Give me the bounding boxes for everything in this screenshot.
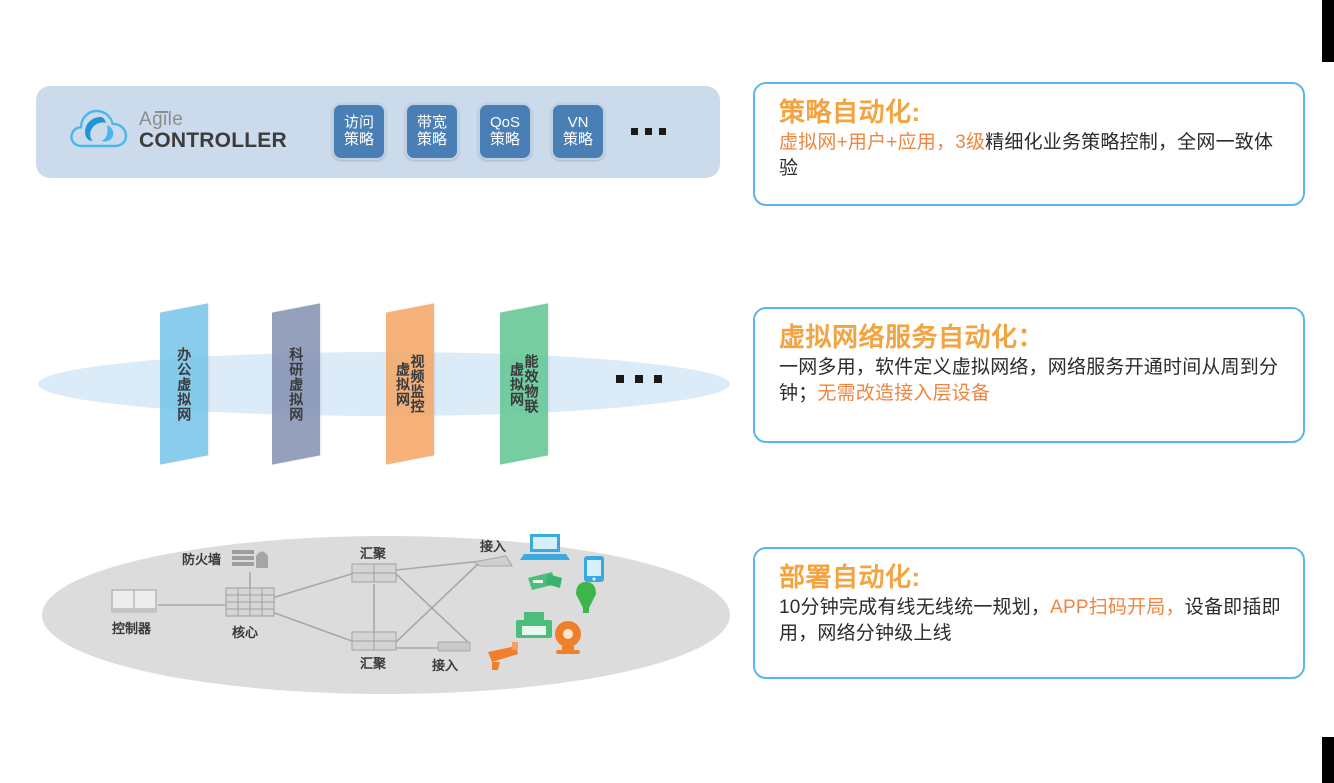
vn-slab-video-surveillance-text-1: 虚拟网: [395, 362, 410, 407]
vn-slab-energy-iot-label: 虚拟网 能效物联: [500, 308, 548, 460]
controller-node-label: 控制器: [112, 621, 152, 636]
logo-brand-top: Agile: [139, 110, 183, 129]
policy-tile-vn-line2: 策略: [563, 132, 593, 149]
ellipsis-dot: [635, 375, 643, 383]
vn-slab-energy-iot-text-2: 能效物联: [524, 354, 539, 414]
policy-automation-card: 策略自动化: 虚拟网+用户+应用，3级精细化业务策略控制，全网一致体验: [753, 82, 1305, 206]
ellipsis-dot: [631, 128, 638, 135]
agg-switch-upper-label: 汇聚: [360, 546, 387, 561]
policy-tile-qos[interactable]: QoS 策略: [478, 103, 532, 160]
virtual-network-service-automation-card: 虚拟网络服务自动化： 一网多用，软件定义虚拟网络，网络服务开通时间从周到分钟；无…: [753, 307, 1305, 443]
link-agg-lower-access-upper: [396, 564, 478, 642]
deployment-automation-highlight: APP扫码开局，: [1050, 597, 1185, 618]
controller-node: [112, 590, 156, 613]
vn-slab-office-text: 办公虚拟网: [177, 347, 192, 422]
policy-tile-bandwidth-line1: 带宽: [417, 115, 447, 132]
access-ap-upper: [474, 556, 512, 566]
policy-tile-row: 访问 策略 带宽 策略 QoS 策略 VN 策略: [332, 103, 666, 160]
deployment-automation-plain-1: 10分钟完成有线无线统一规划，: [779, 597, 1050, 618]
firewall-node-label: 防火墙: [182, 552, 221, 567]
cloud-swirl-icon: [68, 104, 130, 154]
slide-canvas: Agile CONTROLLER 访问 策略 带宽 策略 QoS 策略 VN 策…: [0, 0, 1334, 783]
ellipsis-dot: [659, 128, 666, 135]
topology-links: [158, 561, 482, 648]
access-ap-lower: [438, 642, 470, 651]
vn-slab-office[interactable]: 办公虚拟网: [160, 303, 208, 464]
policy-tile-vn[interactable]: VN 策略: [551, 103, 605, 160]
ellipsis-dot: [654, 375, 662, 383]
policy-tile-access-line2: 策略: [344, 132, 374, 149]
policy-tile-qos-line1: QoS: [490, 115, 520, 132]
agg-switch-lower: [352, 632, 396, 650]
policy-automation-card-title: 策略自动化:: [779, 97, 1284, 127]
deployment-automation-card-title: 部署自动化:: [779, 562, 1284, 592]
vn-slab-research-text: 科研虚拟网: [289, 347, 304, 422]
vn-service-automation-highlight: 无需改造接入层设备: [817, 383, 990, 404]
topology-labels: 控制器 防火墙 核心 汇聚 汇聚 接入 接入: [112, 539, 506, 673]
policy-tile-access-line1: 访问: [344, 115, 374, 132]
right-edge-bar-bottom: [1322, 737, 1334, 783]
agile-controller-band: Agile CONTROLLER 访问 策略 带宽 策略 QoS 策略 VN 策…: [36, 86, 720, 178]
pos-terminal-icon: [528, 572, 562, 590]
topology-diagram: 控制器 防火墙 核心 汇聚 汇聚 接入 接入: [0, 516, 740, 706]
policy-more-ellipsis-icon: [631, 128, 666, 135]
vn-slab-research[interactable]: 科研虚拟网: [272, 303, 320, 464]
laptop-icon: [520, 534, 570, 560]
printer-icon: [516, 612, 552, 638]
network-lens-background: [38, 352, 730, 416]
link-agg-upper-access-lower: [396, 574, 470, 644]
cctv-camera-icon: [488, 642, 518, 670]
policy-tile-access[interactable]: 访问 策略: [332, 103, 386, 160]
deployment-automation-card-body: 10分钟完成有线无线统一规划，APP扫码开局，设备即插即用，网络分钟级上线: [779, 595, 1284, 647]
smart-lamp-icon: [576, 582, 596, 613]
policy-tile-vn-line1: VN: [568, 115, 589, 132]
tablet-icon: [584, 556, 604, 582]
vn-slab-video-surveillance-text-2: 视频监控: [410, 354, 425, 414]
macron-mark: [155, 111, 168, 113]
access-ap-lower-label: 接入: [432, 658, 458, 673]
vn-slab-energy-iot[interactable]: 虚拟网 能效物联: [500, 303, 548, 464]
deployment-automation-card: 部署自动化: 10分钟完成有线无线统一规划，APP扫码开局，设备即插即用，网络分…: [753, 547, 1305, 679]
virtual-network-layer-group: 办公虚拟网 科研虚拟网 虚拟网 视频监控 虚拟网 能效物联: [0, 286, 740, 486]
vn-service-automation-card-body: 一网多用，软件定义虚拟网络，网络服务开通时间从周到分钟；无需改造接入层设备: [779, 355, 1284, 407]
vn-service-automation-card-title: 虚拟网络服务自动化：: [779, 322, 1284, 352]
policy-tile-bandwidth[interactable]: 带宽 策略: [405, 103, 459, 160]
ellipsis-dot: [616, 375, 624, 383]
right-edge-bar-top: [1322, 0, 1334, 62]
vn-slab-office-label: 办公虚拟网: [160, 308, 208, 460]
firewall-node: [232, 550, 268, 568]
agile-controller-logo: Agile CONTROLLER: [68, 104, 287, 154]
link-core-agg-lower: [272, 612, 360, 644]
ellipsis-dot: [645, 128, 652, 135]
policy-tile-bandwidth-line2: 策略: [417, 132, 447, 149]
policy-automation-highlight: 虚拟网+用户+应用，3级: [779, 132, 985, 153]
logo-brand-bottom: CONTROLLER: [139, 130, 287, 151]
agg-switch-upper: [352, 564, 396, 582]
vn-slab-video-surveillance-label: 虚拟网 视频监控: [386, 308, 434, 460]
policy-automation-card-body: 虚拟网+用户+应用，3级精细化业务策略控制，全网一致体验: [779, 130, 1284, 182]
link-core-agg-upper: [272, 572, 358, 598]
vn-slab-video-surveillance[interactable]: 虚拟网 视频监控: [386, 303, 434, 464]
core-switch-node-label: 核心: [232, 625, 258, 640]
policy-tile-qos-line2: 策略: [490, 132, 520, 149]
vn-more-ellipsis-icon: [616, 375, 662, 383]
link-agg-upper-access-upper: [396, 561, 482, 570]
network-topology-group: 控制器 防火墙 核心 汇聚 汇聚 接入 接入: [0, 516, 740, 706]
access-ap-upper-label: 接入: [480, 539, 506, 554]
vn-slab-energy-iot-text-1: 虚拟网: [509, 362, 524, 407]
core-switch-node: [226, 588, 274, 616]
vn-slab-research-label: 科研虚拟网: [272, 308, 320, 460]
agg-switch-lower-label: 汇聚: [360, 656, 387, 671]
webcam-icon: [555, 621, 581, 654]
